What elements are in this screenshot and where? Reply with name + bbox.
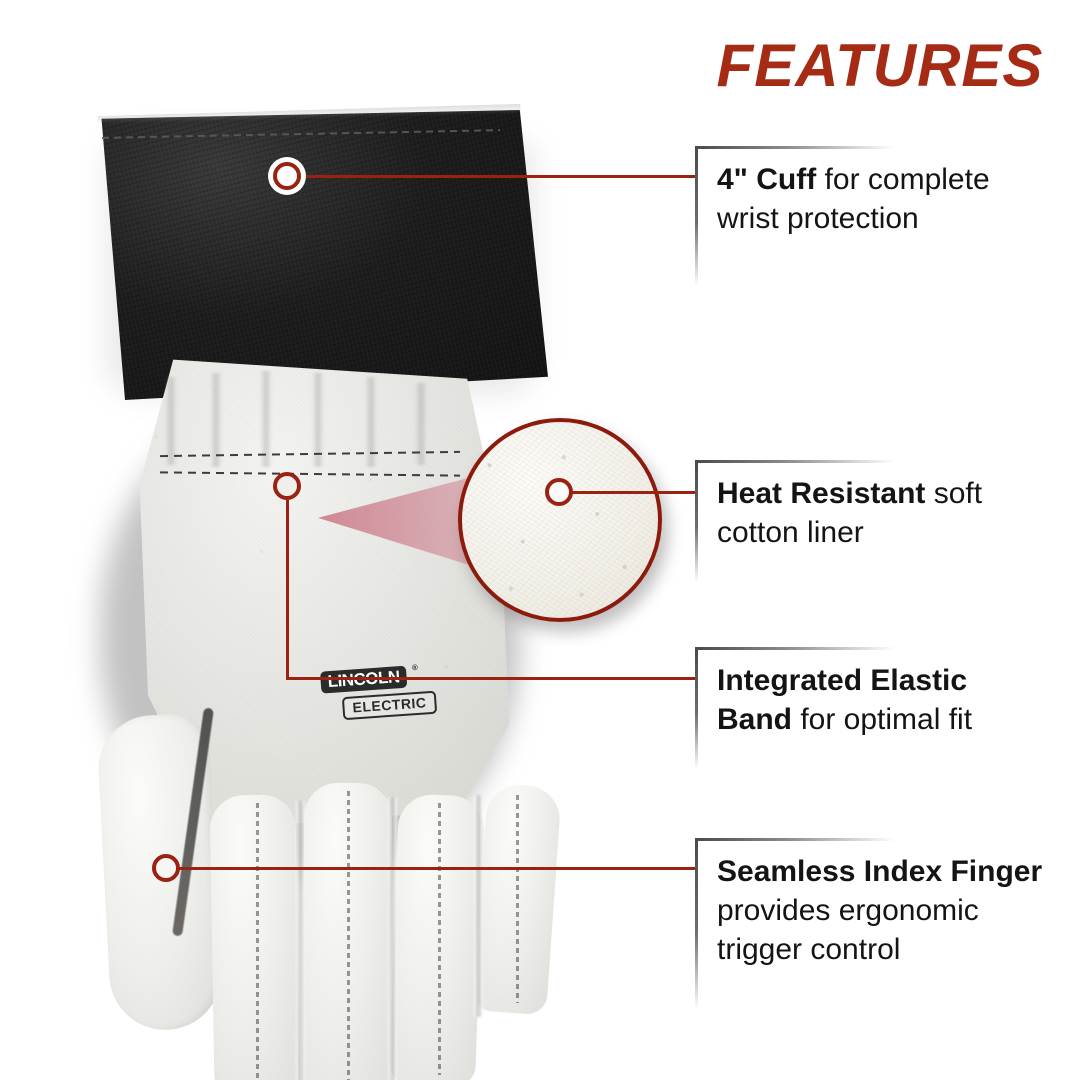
glove-finger-index bbox=[209, 794, 300, 1080]
finger-gap-2 bbox=[388, 797, 397, 1080]
page-title: FEATURES bbox=[690, 36, 1070, 96]
callout-bold-cuff: 4" Cuff bbox=[717, 163, 816, 196]
cuff-suede-texture bbox=[78, 110, 548, 400]
callout-elastic-band: Integrated Elastic Band for optimal fit bbox=[695, 647, 1055, 769]
magnifier-inset-cotton-liner bbox=[458, 418, 662, 622]
elastic-band-marker[interactable] bbox=[273, 472, 301, 500]
bracket-horizontal-heat bbox=[695, 460, 895, 463]
callout-rest-elastic: for optimal fit bbox=[792, 703, 972, 736]
leader-line-elastic-horizontal bbox=[286, 677, 698, 680]
finger-seam-pinky bbox=[516, 795, 519, 1003]
callout-heat-resistant: Heat Resistant soft cotton liner bbox=[695, 460, 1055, 582]
glove-cuff bbox=[78, 110, 548, 400]
callout-text-elastic-band: Integrated Elastic Band for optimal fit bbox=[717, 661, 1047, 739]
finger-gap-1 bbox=[296, 801, 305, 1080]
bracket-vertical-index bbox=[695, 838, 698, 1010]
heat-resistant-marker[interactable] bbox=[545, 478, 573, 506]
cotton-fleece-texture bbox=[462, 422, 658, 618]
glove-finger-ring bbox=[389, 794, 485, 1080]
bracket-horizontal-elastic bbox=[695, 647, 895, 650]
finger-seam-ring bbox=[438, 803, 441, 1075]
callout-rest-index: provides ergonomic trigger control bbox=[717, 894, 979, 966]
callout-bold-index: Seamless Index Finger bbox=[717, 855, 1042, 888]
features-infographic: FEATURES bbox=[0, 0, 1080, 1080]
logo-sub-text: ELECTRIC bbox=[342, 691, 437, 721]
bracket-vertical-cuff bbox=[695, 146, 698, 286]
callout-index-finger: Seamless Index Finger provides ergonomic… bbox=[695, 838, 1055, 1010]
finger-seam-index bbox=[256, 803, 259, 1080]
callout-text-heat-resistant: Heat Resistant soft cotton liner bbox=[717, 474, 1047, 552]
leader-line-index-finger bbox=[178, 867, 698, 870]
finger-gap-3 bbox=[474, 795, 483, 1017]
finger-seam-middle bbox=[347, 791, 350, 1080]
gather-fold-1 bbox=[165, 377, 177, 465]
cuff-marker[interactable] bbox=[273, 162, 301, 190]
lincoln-electric-logo: LINCOLN ® ELECTRIC bbox=[320, 662, 456, 733]
leader-line-cuff bbox=[300, 175, 698, 178]
leader-line-elastic-vertical bbox=[286, 500, 289, 679]
logo-registered-mark: ® bbox=[412, 663, 419, 672]
callout-bold-heat: Heat Resistant bbox=[717, 477, 925, 510]
callout-cuff: 4" Cuff for complete wrist protection bbox=[695, 146, 1055, 286]
bracket-horizontal-index bbox=[695, 838, 895, 841]
callout-text-index-finger: Seamless Index Finger provides ergonomic… bbox=[717, 852, 1047, 969]
gather-fold-2 bbox=[210, 373, 222, 467]
bracket-vertical-heat bbox=[695, 460, 698, 582]
bracket-vertical-elastic bbox=[695, 647, 698, 769]
callout-text-cuff: 4" Cuff for complete wrist protection bbox=[717, 160, 1047, 238]
bracket-horizontal-cuff bbox=[695, 146, 895, 149]
leader-line-heat-resistant bbox=[570, 491, 698, 494]
index-finger-marker[interactable] bbox=[152, 854, 180, 882]
